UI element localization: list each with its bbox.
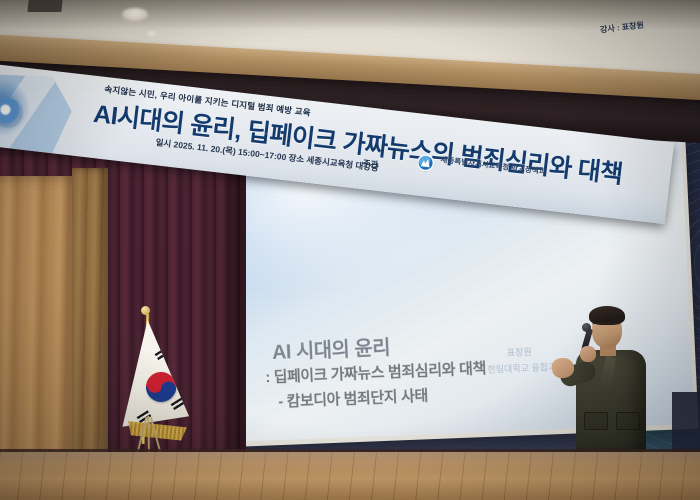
wood-wall-panel: [0, 176, 78, 462]
lecture-hall-photo: AI 시대의 윤리 : 딥페이크 가짜뉴스 범죄심리와 대책 - 캄보디아 범죄…: [0, 0, 700, 500]
presenter-right-hand: [580, 346, 596, 362]
microphone-head-icon: [582, 323, 591, 332]
side-door: [672, 392, 700, 454]
slide-title: AI 시대의 윤리: [271, 331, 390, 365]
slide-subtitle-line-2: - 캄보디아 범죄단지 사태: [278, 384, 429, 411]
taegukgi-flag-icon: [118, 320, 192, 436]
trigram-gam-icon: [171, 397, 187, 412]
ceiling-shadow: [0, 0, 700, 30]
trigram-geon-icon: [155, 347, 171, 362]
ceiling-lamp: [122, 8, 148, 21]
wood-wall-panel-secondary: [72, 168, 108, 464]
stage-floor-reflection: [0, 452, 700, 500]
banner-host-label: 주관: [362, 157, 379, 171]
ceiling-vent: [27, 0, 62, 12]
presenter-jacket-pocket-left: [584, 412, 608, 430]
glasses-icon: [592, 323, 619, 331]
ceiling-lamp-secondary: [146, 30, 157, 37]
banner-decoration-graphic: [0, 68, 75, 155]
slide-speaker-name: 표창원: [507, 345, 533, 359]
presenter-jacket-pocket-right: [616, 412, 640, 430]
